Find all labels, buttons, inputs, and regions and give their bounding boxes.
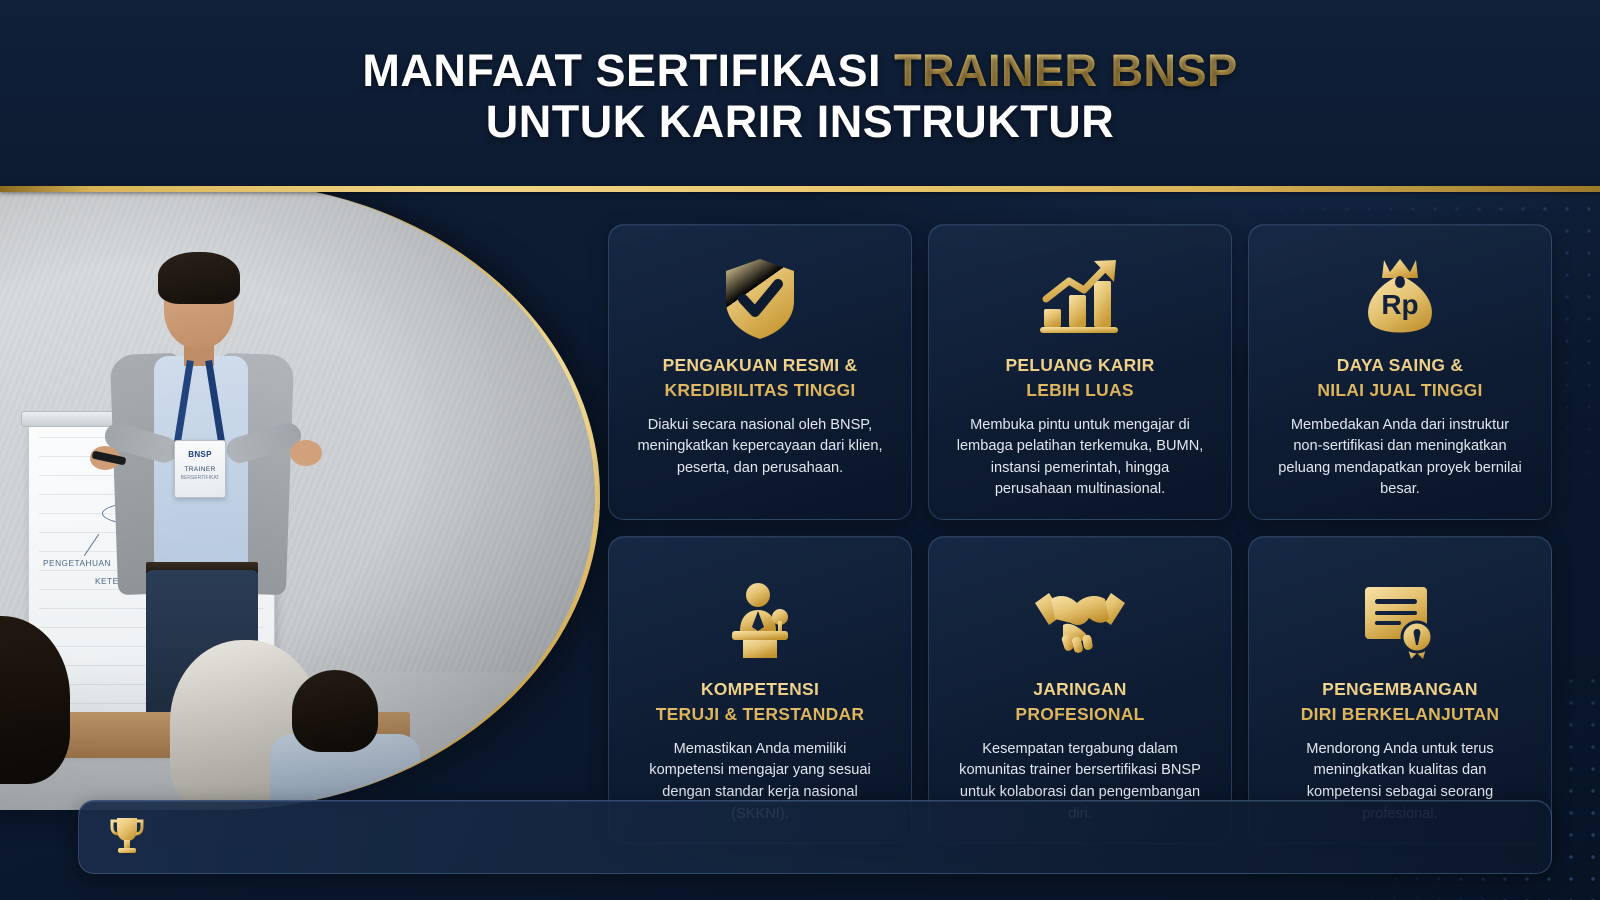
benefit-card-kompetensi-teruji[interactable]: KOMPETENSI TERUJI & TERSTANDAR Memastika… — [608, 536, 912, 844]
money-bag-rupiah-icon: Rp — [1360, 247, 1440, 351]
benefit-card-title: PELUANG KARIR LEBIH LUAS — [1005, 353, 1154, 403]
benefit-card-pengembangan-diri[interactable]: PENGEMBANGAN DIRI BERKELANJUTAN Mendoron… — [1248, 536, 1552, 844]
hero-photo-mask: KOMPETENSI PENGETAHUAN KETERAMPILAN KETE… — [0, 182, 600, 810]
trophy-icon — [109, 815, 145, 860]
svg-text:Rp: Rp — [1381, 289, 1418, 320]
benefit-card-title: KOMPETENSI TERUJI & TERSTANDAR — [656, 677, 865, 727]
hero-photo-panel: KOMPETENSI PENGETAHUAN KETERAMPILAN KETE… — [0, 192, 600, 800]
benefit-card-title: JARINGAN PROFESIONAL — [1015, 677, 1144, 727]
infographic-poster: MANFAAT SERTIFIKASI TRAINER BNSP UNTUK K… — [0, 0, 1600, 900]
benefit-card-description: Membuka pintu untuk mengajar di lembaga … — [955, 415, 1205, 501]
benefit-card-description: Membedakan Anda dari instruktur non-sert… — [1275, 415, 1525, 501]
page-title-line-2: UNTUK KARIR INSTRUKTUR — [486, 96, 1114, 147]
benefit-card-peluang-karir[interactable]: PELUANG KARIR LEBIH LUAS Membuka pintu u… — [928, 224, 1232, 520]
classroom-scene: KOMPETENSI PENGETAHUAN KETERAMPILAN KETE… — [0, 182, 600, 810]
benefit-card-pengakuan-resmi[interactable]: PENGAKUAN RESMI & KREDIBILITAS TINGGI Di… — [608, 224, 912, 520]
benefit-card-description: Diakui secara nasional oleh BNSP, mening… — [635, 415, 885, 480]
benefit-card-jaringan-profesional[interactable]: JARINGAN PROFESIONAL Kesempatan tergabun… — [928, 536, 1232, 844]
bottom-banner[interactable] — [78, 800, 1552, 874]
speaker-podium-icon — [718, 571, 802, 675]
growth-chart-icon — [1036, 247, 1124, 351]
shield-check-icon — [722, 247, 798, 351]
title-white-part: MANFAAT SERTIFIKASI — [362, 45, 894, 96]
poster-header: MANFAAT SERTIFIKASI TRAINER BNSP UNTUK K… — [0, 0, 1600, 192]
photo-vignette — [0, 182, 600, 810]
certificate-award-icon — [1357, 571, 1443, 675]
benefits-card-grid: PENGAKUAN RESMI & KREDIBILITAS TINGGI Di… — [608, 224, 1552, 784]
benefit-card-title: PENGEMBANGAN DIRI BERKELANJUTAN — [1301, 677, 1500, 727]
benefit-card-title: PENGAKUAN RESMI & KREDIBILITAS TINGGI — [663, 353, 858, 403]
handshake-icon — [1033, 571, 1127, 675]
benefit-card-title: DAYA SAING & NILAI JUAL TINGGI — [1317, 353, 1482, 403]
benefit-card-daya-saing[interactable]: Rp DAYA SAING & NILAI JUAL TINGGI Membed… — [1248, 224, 1552, 520]
gold-divider-rule — [0, 186, 1600, 192]
page-title-line-1: MANFAAT SERTIFIKASI TRAINER BNSP — [362, 45, 1237, 96]
title-gold-part: TRAINER BNSP — [894, 45, 1238, 96]
